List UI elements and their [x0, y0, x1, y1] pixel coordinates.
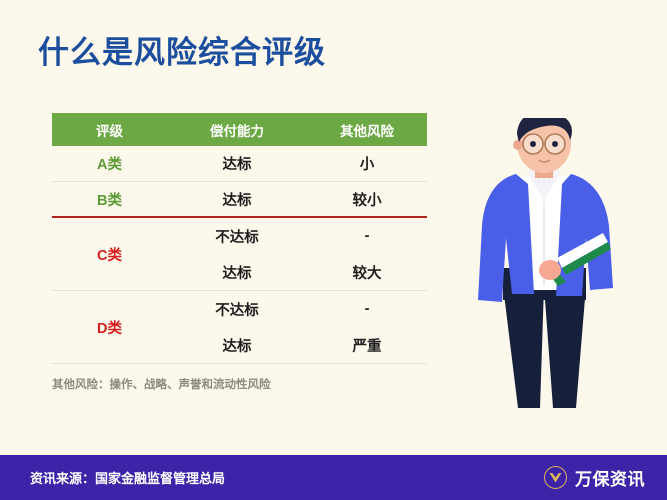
crown-w-circle-icon [544, 466, 567, 489]
other-risk-cell: 较大 [307, 254, 427, 290]
table-row-group: D类 不达标 - 达标 严重 [52, 291, 427, 364]
rating-grade-cell: D类 [52, 291, 167, 363]
other-risk-cell: - [307, 218, 427, 254]
table-header-row: 评级 偿付能力 其他风险 [52, 113, 427, 146]
table-subrow: 达标 较大 [167, 254, 427, 290]
footer-bar: 资讯来源：国家金融监督管理总局 万保资讯 [0, 455, 667, 500]
hand [539, 260, 561, 280]
solvency-cell: 不达标 [167, 291, 307, 327]
grade-label-d: D类 [97, 317, 122, 338]
rating-grade-cell: C类 [52, 218, 167, 290]
crown-w-glyph [549, 472, 562, 483]
other-risk-cell: 较小 [307, 182, 427, 216]
solvency-cell: 达标 [167, 146, 307, 181]
right-leg [544, 286, 586, 408]
solvency-cell: 不达标 [167, 218, 307, 254]
table-row: A类 达标 小 [52, 146, 427, 182]
brand-logo: 万保资讯 [544, 465, 645, 490]
grade-label-a: A类 [97, 153, 122, 174]
brand-name: 万保资讯 [575, 465, 645, 490]
rating-grade-cell: B类 [52, 182, 167, 216]
ear [513, 140, 523, 150]
solvency-cell: 达标 [167, 254, 307, 290]
grade-label-b: B类 [97, 189, 122, 210]
table-subrow: 达标 严重 [167, 327, 427, 363]
table-subrow: 不达标 - [167, 218, 427, 254]
other-risk-cell: 严重 [307, 327, 427, 363]
column-header-solvency: 偿付能力 [167, 120, 307, 140]
right-eye [552, 141, 558, 147]
other-risk-cell: 小 [307, 146, 427, 181]
solvency-cell: 达标 [167, 182, 307, 216]
table-row-group: C类 不达标 - 达标 较大 [52, 218, 427, 291]
table-subrow: 不达标 - [167, 291, 427, 327]
rating-grade-cell: A类 [52, 146, 167, 181]
column-header-rating: 评级 [52, 120, 167, 140]
risk-rating-table: 评级 偿付能力 其他风险 A类 达标 小 B类 达标 较小 C类 不达标 - 达… [52, 113, 427, 364]
column-header-other-risk: 其他风险 [307, 120, 427, 140]
businessman-with-clipboard-illustration [440, 118, 667, 455]
table-row: B类 达标 较小 [52, 182, 427, 218]
grade-label-c: C类 [97, 244, 122, 265]
left-eye [530, 141, 536, 147]
left-leg [503, 286, 544, 408]
table-footnote: 其他风险：操作、战略、声誉和流动性风险 [52, 376, 271, 392]
source-label: 资讯来源：国家金融监督管理总局 [30, 468, 225, 487]
solvency-cell: 达标 [167, 327, 307, 363]
page-title: 什么是风险综合评级 [38, 27, 326, 72]
other-risk-cell: - [307, 291, 427, 327]
